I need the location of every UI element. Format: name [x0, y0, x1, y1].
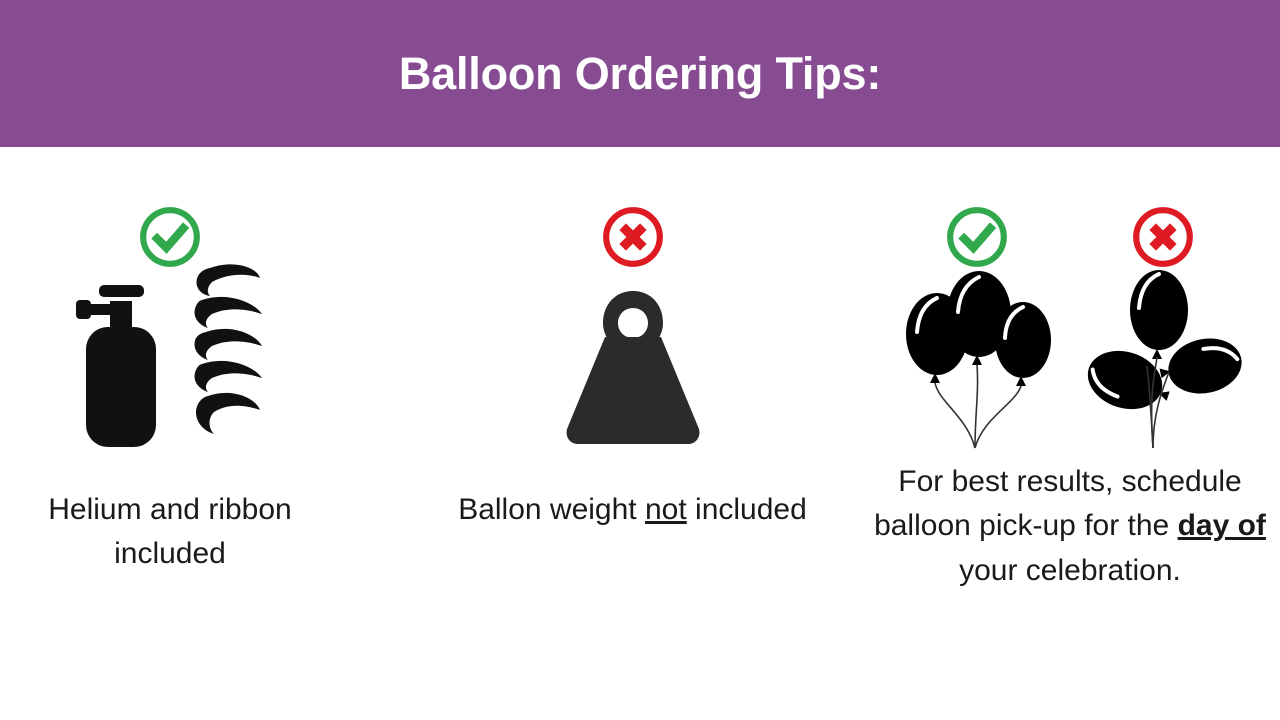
status-row	[0, 147, 340, 237]
tip-column-balloon-weight: Ballon weight not included	[455, 147, 810, 532]
caption-balloon-weight: Ballon weight not included	[455, 488, 810, 532]
caption-pickup-timing: For best results, schedule balloon pick-…	[860, 460, 1280, 593]
status-row	[455, 147, 810, 237]
artwork-row	[455, 237, 810, 452]
tip-column-pickup-timing: For best results, schedule balloon pick-…	[860, 147, 1280, 593]
caption-segment-3: your celebration.	[959, 554, 1181, 587]
deflated-balloons-icon	[1087, 262, 1242, 452]
caption-helium-ribbon: Helium and ribbon included	[0, 488, 340, 577]
caption-text: Helium and ribbon included	[48, 493, 291, 570]
helium-tank-icon	[72, 277, 182, 452]
slide-root: Balloon Ordering Tips:	[0, 0, 1280, 720]
status-row	[860, 147, 1280, 237]
inflated-balloons-icon	[899, 262, 1059, 452]
tip-column-helium-ribbon: Helium and ribbon included	[0, 147, 340, 577]
balloon-weight-icon	[543, 287, 723, 452]
content-area: Helium and ribbon included	[0, 147, 1280, 720]
curly-ribbon-icon	[190, 262, 268, 452]
caption-segment-emphasized: day of	[1178, 509, 1266, 542]
page-title: Balloon Ordering Tips:	[399, 51, 881, 96]
caption-segment-1: Ballon weight	[458, 493, 645, 526]
artwork-row	[860, 237, 1280, 452]
header-banner: Balloon Ordering Tips:	[0, 0, 1280, 147]
caption-segment-underlined: not	[645, 493, 687, 526]
caption-segment-3: included	[687, 493, 807, 526]
artwork-row	[0, 237, 340, 452]
